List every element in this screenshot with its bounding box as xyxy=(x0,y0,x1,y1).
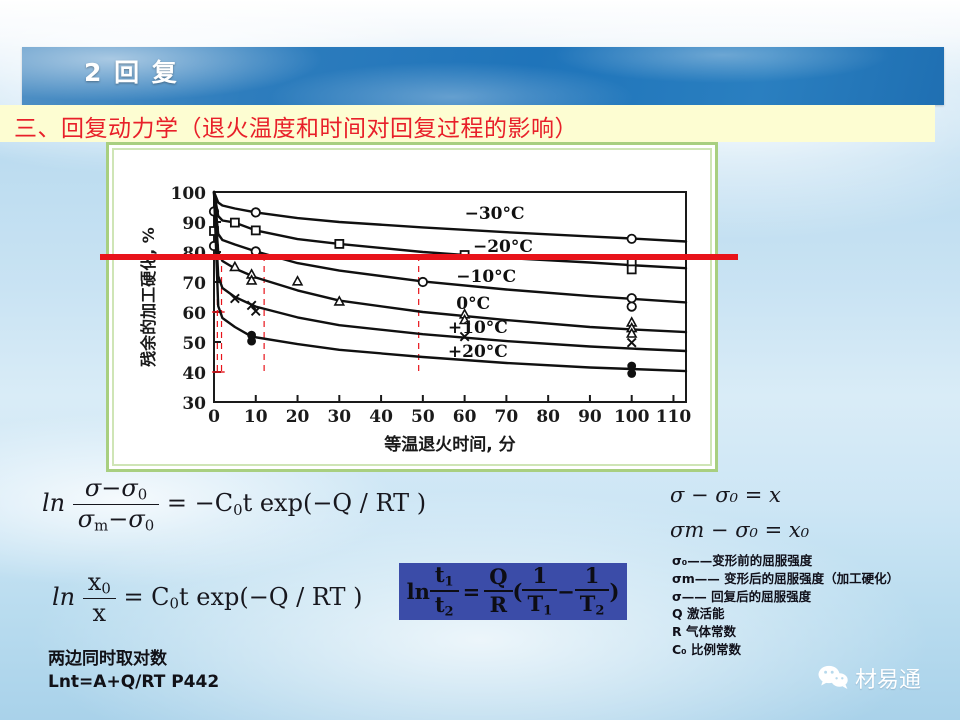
eq1-rhs-tail: t exp(−Q / RT ) xyxy=(243,489,427,517)
eqbox-T2-base: T xyxy=(580,591,596,616)
recovery-kinetics-chart: 3040506070809010001020304050607080901001… xyxy=(114,150,714,468)
bottom-note: 两边同时取对数 Lnt=A+Q/RT P442 xyxy=(48,648,219,694)
eqbox-t1: t xyxy=(435,563,445,587)
eq1-rhs-sub: 0 xyxy=(233,501,242,519)
eqbox-open-paren: ( xyxy=(513,579,523,604)
eq3-line2: σm − σ₀ = x₀ xyxy=(670,513,809,548)
eq2-num-sub: 0 xyxy=(101,580,110,598)
chart-canvas: 3040506070809010001020304050607080901001… xyxy=(112,148,712,466)
svg-text:60: 60 xyxy=(453,407,477,427)
eqbox-one-b: 1 xyxy=(575,564,610,591)
series-10C: −10°C xyxy=(210,192,686,311)
svg-text:0: 0 xyxy=(208,407,220,427)
eq1-den-sub: m xyxy=(94,517,108,535)
equation-ln-x-ratio: ln x0 x = C0t exp(−Q / RT ) xyxy=(52,568,363,629)
eq1-den-minus: − xyxy=(108,505,128,533)
watermark-text: 材易通 xyxy=(855,662,921,694)
svg-text:100: 100 xyxy=(614,407,650,427)
eqbox-qr-fraction: Q R xyxy=(484,565,512,617)
nomenclature-item: Q 激活能 xyxy=(672,605,940,623)
eq1-den-sigma0: σ xyxy=(128,505,144,533)
nomenclature-item: R 气体常数 xyxy=(672,623,940,641)
svg-text:100: 100 xyxy=(171,184,207,204)
nomenclature-list: σ₀——变形前的屈服强度σm—— 变形后的屈服强度（加工硬化）σ—— 回复后的屈… xyxy=(672,552,940,659)
note-line-1: 两边同时取对数 xyxy=(48,648,219,671)
equation-ln-sigma-ratio: ln σ−σ0 σm−σ0 = −C0t exp(−Q / RT ) xyxy=(42,474,426,535)
eqbox-T1-base: T xyxy=(527,591,543,616)
eqbox-time-fraction: t1 t2 xyxy=(430,563,459,620)
eq2-ln: ln xyxy=(52,583,75,611)
eq2-numerator: x0 xyxy=(83,568,116,599)
eq1-num-sigma: σ xyxy=(85,474,101,502)
watermark: 材易通 xyxy=(818,662,921,694)
svg-text:70: 70 xyxy=(182,274,206,294)
nomenclature-item: C₀ 比例常数 xyxy=(672,641,940,659)
eqbox-q: Q xyxy=(484,565,512,592)
nomenclature-item: σ₀——变形前的屈服强度 xyxy=(672,552,940,570)
svg-text:50: 50 xyxy=(411,407,435,427)
svg-text:等温退火时间, 分: 等温退火时间, 分 xyxy=(384,434,515,455)
svg-text:80: 80 xyxy=(536,407,560,427)
eqbox-t1-sub: 1 xyxy=(445,574,454,589)
eqbox-one-a: 1 xyxy=(522,564,557,591)
eqbox-t2: t xyxy=(435,592,445,617)
eqbox-ln: ln xyxy=(407,579,430,604)
eqbox-T1: T1 xyxy=(522,591,557,619)
eq2-rhs-sub: 0 xyxy=(170,594,179,612)
eq1-den-sigma: σ xyxy=(78,505,94,533)
svg-text:40: 40 xyxy=(182,364,206,384)
eqbox-inv-t1: 1 T1 xyxy=(522,564,557,619)
svg-text:40: 40 xyxy=(369,407,393,427)
series-20C: −20°C xyxy=(210,192,686,273)
eq2-rhs: = C xyxy=(123,583,169,611)
eq1-rhs: = −C xyxy=(167,489,233,517)
svg-text:50: 50 xyxy=(182,334,206,354)
eqbox-r: R xyxy=(484,592,512,618)
eq1-ln: ln xyxy=(42,489,65,517)
eq1-denominator: σm−σ0 xyxy=(73,505,159,535)
eq1-num-sigma0: σ xyxy=(121,474,137,502)
series-label: 0°C xyxy=(456,294,490,314)
eq1-num-sigma0-sub: 0 xyxy=(138,486,147,504)
eqbox-t2-sub: 2 xyxy=(445,604,454,619)
eqbox-minus: − xyxy=(557,579,575,604)
eq2-rhs-tail: t exp(−Q / RT ) xyxy=(179,583,363,611)
eq1-fraction: σ−σ0 σm−σ0 xyxy=(73,474,159,535)
slide-banner: 2 回 复 xyxy=(22,47,944,105)
svg-text:20: 20 xyxy=(286,407,310,427)
svg-text:60: 60 xyxy=(182,304,206,324)
section-subtitle: 三、回复动力学（退火温度和时间对回复过程的影响） xyxy=(14,109,578,143)
eqbox-close-paren: ) xyxy=(609,579,619,604)
eqbox-T2: T2 xyxy=(575,591,610,619)
eqbox-den: t2 xyxy=(430,592,459,620)
svg-text:残余的加工硬化, %: 残余的加工硬化, % xyxy=(139,227,158,367)
red-highlight-line xyxy=(100,254,738,260)
equation-substitutions: σ − σ₀ = x σm − σ₀ = x₀ xyxy=(670,478,809,547)
eq1-num-minus: − xyxy=(101,474,121,502)
equation-arrhenius-box: ln t1 t2 = Q R ( 1 T1 − 1 T2 ) xyxy=(399,563,627,620)
eqbox-num: t1 xyxy=(430,563,459,592)
series-label: −10°C xyxy=(456,267,516,287)
eq1-numerator: σ−σ0 xyxy=(73,474,159,505)
eq2-num: x xyxy=(88,568,102,596)
wechat-icon xyxy=(818,665,848,691)
svg-text:70: 70 xyxy=(495,407,519,427)
eq2-denominator: x xyxy=(83,599,116,628)
svg-text:110: 110 xyxy=(656,407,692,427)
nomenclature-item: σ—— 回复后的屈服强度 xyxy=(672,588,940,606)
eqbox-inv-t2: 1 T2 xyxy=(575,564,610,619)
svg-text:90: 90 xyxy=(182,214,206,234)
svg-text:30: 30 xyxy=(327,407,351,427)
svg-text:10: 10 xyxy=(244,407,268,427)
eq2-fraction: x0 x xyxy=(83,568,116,629)
page-title: 2 回 复 xyxy=(84,53,179,89)
svg-text:30: 30 xyxy=(182,394,206,414)
note-line-2: Lnt=A+Q/RT P442 xyxy=(48,671,219,694)
eqbox-T1-sub: 1 xyxy=(543,603,552,618)
svg-text:90: 90 xyxy=(578,407,602,427)
series-label: +20°C xyxy=(448,342,508,362)
nomenclature-item: σm—— 变形后的屈服强度（加工硬化） xyxy=(672,570,940,588)
chart-frame: 3040506070809010001020304050607080901001… xyxy=(106,142,718,472)
series-label: −30°C xyxy=(465,204,525,224)
eqbox-T2-sub: 2 xyxy=(595,603,604,618)
series-label: +10°C xyxy=(448,318,508,338)
eq1-den-sigma0-sub: 0 xyxy=(145,517,154,535)
subtitle-strip: 三、回复动力学（退火温度和时间对回复过程的影响） xyxy=(0,105,935,142)
eq3-line1: σ − σ₀ = x xyxy=(670,478,809,513)
eqbox-equals: = xyxy=(459,579,485,604)
